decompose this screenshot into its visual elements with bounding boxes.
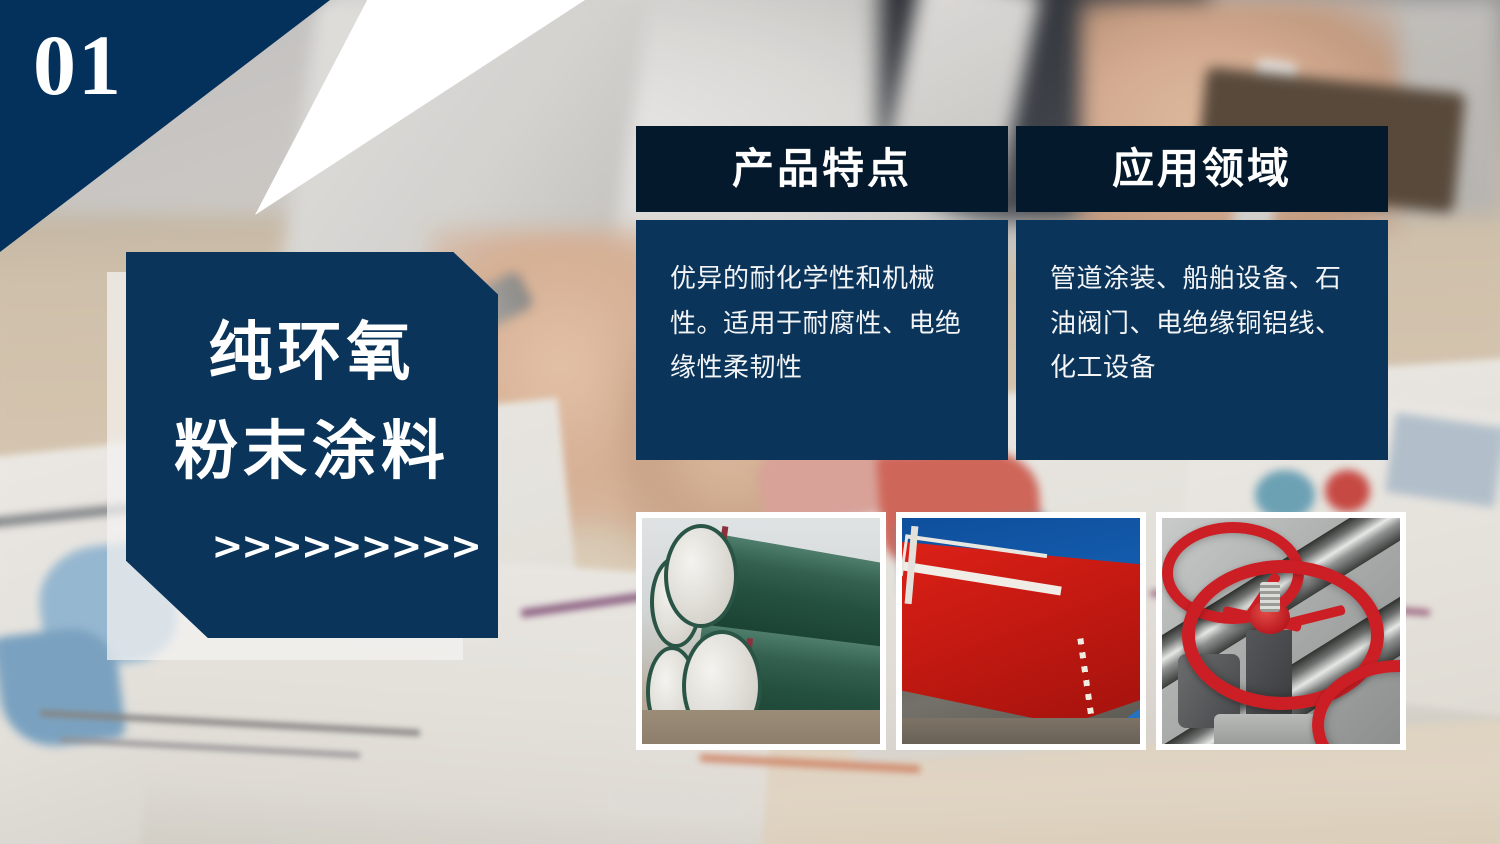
panel-body: 管道涂装、船舶设备、石油阀门、电绝缘铜铝线、化工设备	[1016, 220, 1388, 460]
valve-wheels-image	[1162, 518, 1400, 744]
title-line-1: 纯环氧	[126, 320, 498, 384]
panel-header: 应用领域	[1016, 126, 1388, 212]
panel-body-text: 优异的耐化学性和机械性。适用于耐腐性、电绝缘性柔韧性	[670, 256, 976, 390]
coated-pipes-image	[642, 518, 880, 744]
slide-canvas: 01 纯环氧 粉末涂料 >>>>>>>>> 产品特点 优异的耐化学性和机械性。适…	[0, 0, 1500, 844]
panel-heading-text: 应用领域	[1112, 148, 1292, 190]
chevron-arrows-icon: >>>>>>>>>	[126, 527, 480, 565]
ship-hull-image	[902, 518, 1140, 744]
title-block: 纯环氧 粉末涂料 >>>>>>>>>	[126, 252, 498, 638]
valve-stem	[1260, 582, 1280, 612]
pipes-ground	[642, 710, 880, 744]
pipe-opening	[664, 524, 738, 628]
thumbnail-row	[636, 512, 1406, 750]
dry-dock-ground	[902, 718, 1140, 744]
thumbnail-ship-hull	[896, 512, 1146, 750]
section-number: 01	[33, 22, 123, 108]
panel-body: 优异的耐化学性和机械性。适用于耐腐性、电绝缘性柔韧性	[636, 220, 1008, 460]
valve-base	[1214, 714, 1324, 744]
panel-body-text: 管道涂装、船舶设备、石油阀门、电绝缘铜铝线、化工设备	[1050, 256, 1356, 390]
title-line-2: 粉末涂料	[126, 419, 498, 483]
panel-heading-text: 产品特点	[732, 148, 912, 190]
panel-application-fields: 应用领域 管道涂装、船舶设备、石油阀门、电绝缘铜铝线、化工设备	[1016, 126, 1388, 460]
panel-header: 产品特点	[636, 126, 1008, 212]
panel-product-features: 产品特点 优异的耐化学性和机械性。适用于耐腐性、电绝缘性柔韧性	[636, 126, 1008, 460]
thumbnail-coated-pipes	[636, 512, 886, 750]
thumbnail-valve-wheels	[1156, 512, 1406, 750]
